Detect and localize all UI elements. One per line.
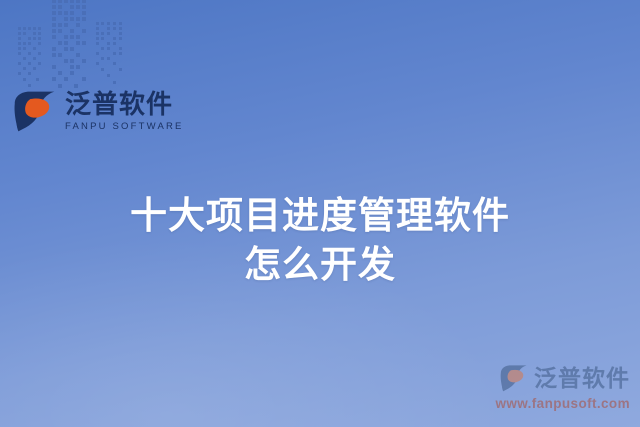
page-title: 十大项目进度管理软件 怎么开发 bbox=[0, 192, 640, 290]
watermark-name-cn: 泛普软件 bbox=[534, 367, 630, 390]
brand-name-cn: 泛普软件 bbox=[65, 91, 184, 118]
page-title-line-2: 怎么开发 bbox=[0, 241, 640, 290]
fanpu-logo-mark-icon bbox=[499, 363, 529, 393]
fanpu-logo-mark-icon bbox=[12, 88, 58, 134]
promo-banner: 泛普软件 FANPU SOFTWARE 十大项目进度管理软件 怎么开发 泛普软件… bbox=[0, 0, 640, 427]
watermark-url: www.fanpusoft.com bbox=[495, 396, 630, 411]
page-title-line-1: 十大项目进度管理软件 bbox=[0, 192, 640, 241]
watermark-logo-row: 泛普软件 bbox=[499, 363, 630, 393]
dot-matrix-decoration bbox=[8, 0, 138, 96]
brand-logo: 泛普软件 FANPU SOFTWARE bbox=[12, 88, 184, 134]
brand-wordmark: 泛普软件 FANPU SOFTWARE bbox=[65, 91, 184, 132]
site-watermark: 泛普软件 www.fanpusoft.com bbox=[495, 363, 630, 411]
brand-name-en: FANPU SOFTWARE bbox=[65, 122, 184, 132]
